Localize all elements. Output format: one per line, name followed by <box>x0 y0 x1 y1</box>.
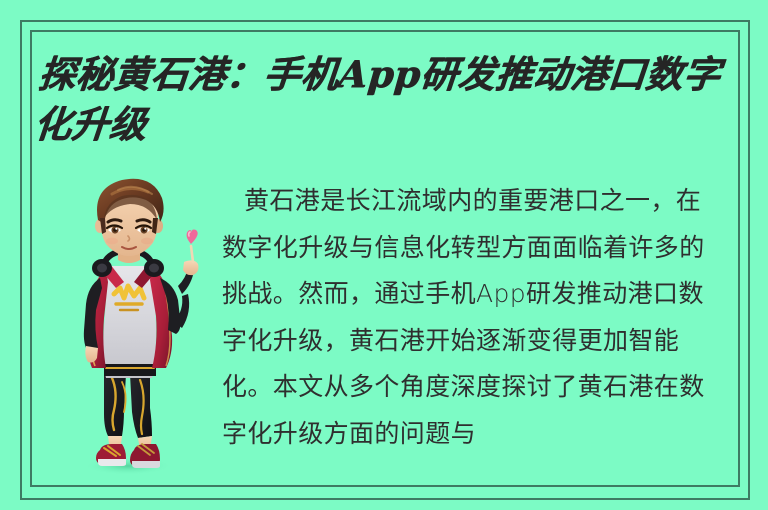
lollipop-stick <box>191 246 193 262</box>
sneaker-left <box>96 444 126 466</box>
page-title: 探秘黄石港：手机App研发推动港口数字化升级 <box>32 49 731 149</box>
article-body-text: 黄石港是长江流域内的重要港口之一，在数字化升级与信息化转型方面面临着许多的挑战。… <box>222 178 722 457</box>
title-block: 探秘黄石港：手机App研发推动港口数字化升级 <box>41 49 731 149</box>
article-body-block: 黄石港是长江流域内的重要港口之一，在数字化升级与信息化转型方面面临着许多的挑战。… <box>222 178 722 457</box>
lollipop-heart <box>187 230 198 245</box>
sneaker-right <box>130 444 160 468</box>
character-illustration <box>60 178 208 478</box>
poster-root: 探秘黄石港：手机App研发推动港口数字化升级 <box>0 0 768 510</box>
